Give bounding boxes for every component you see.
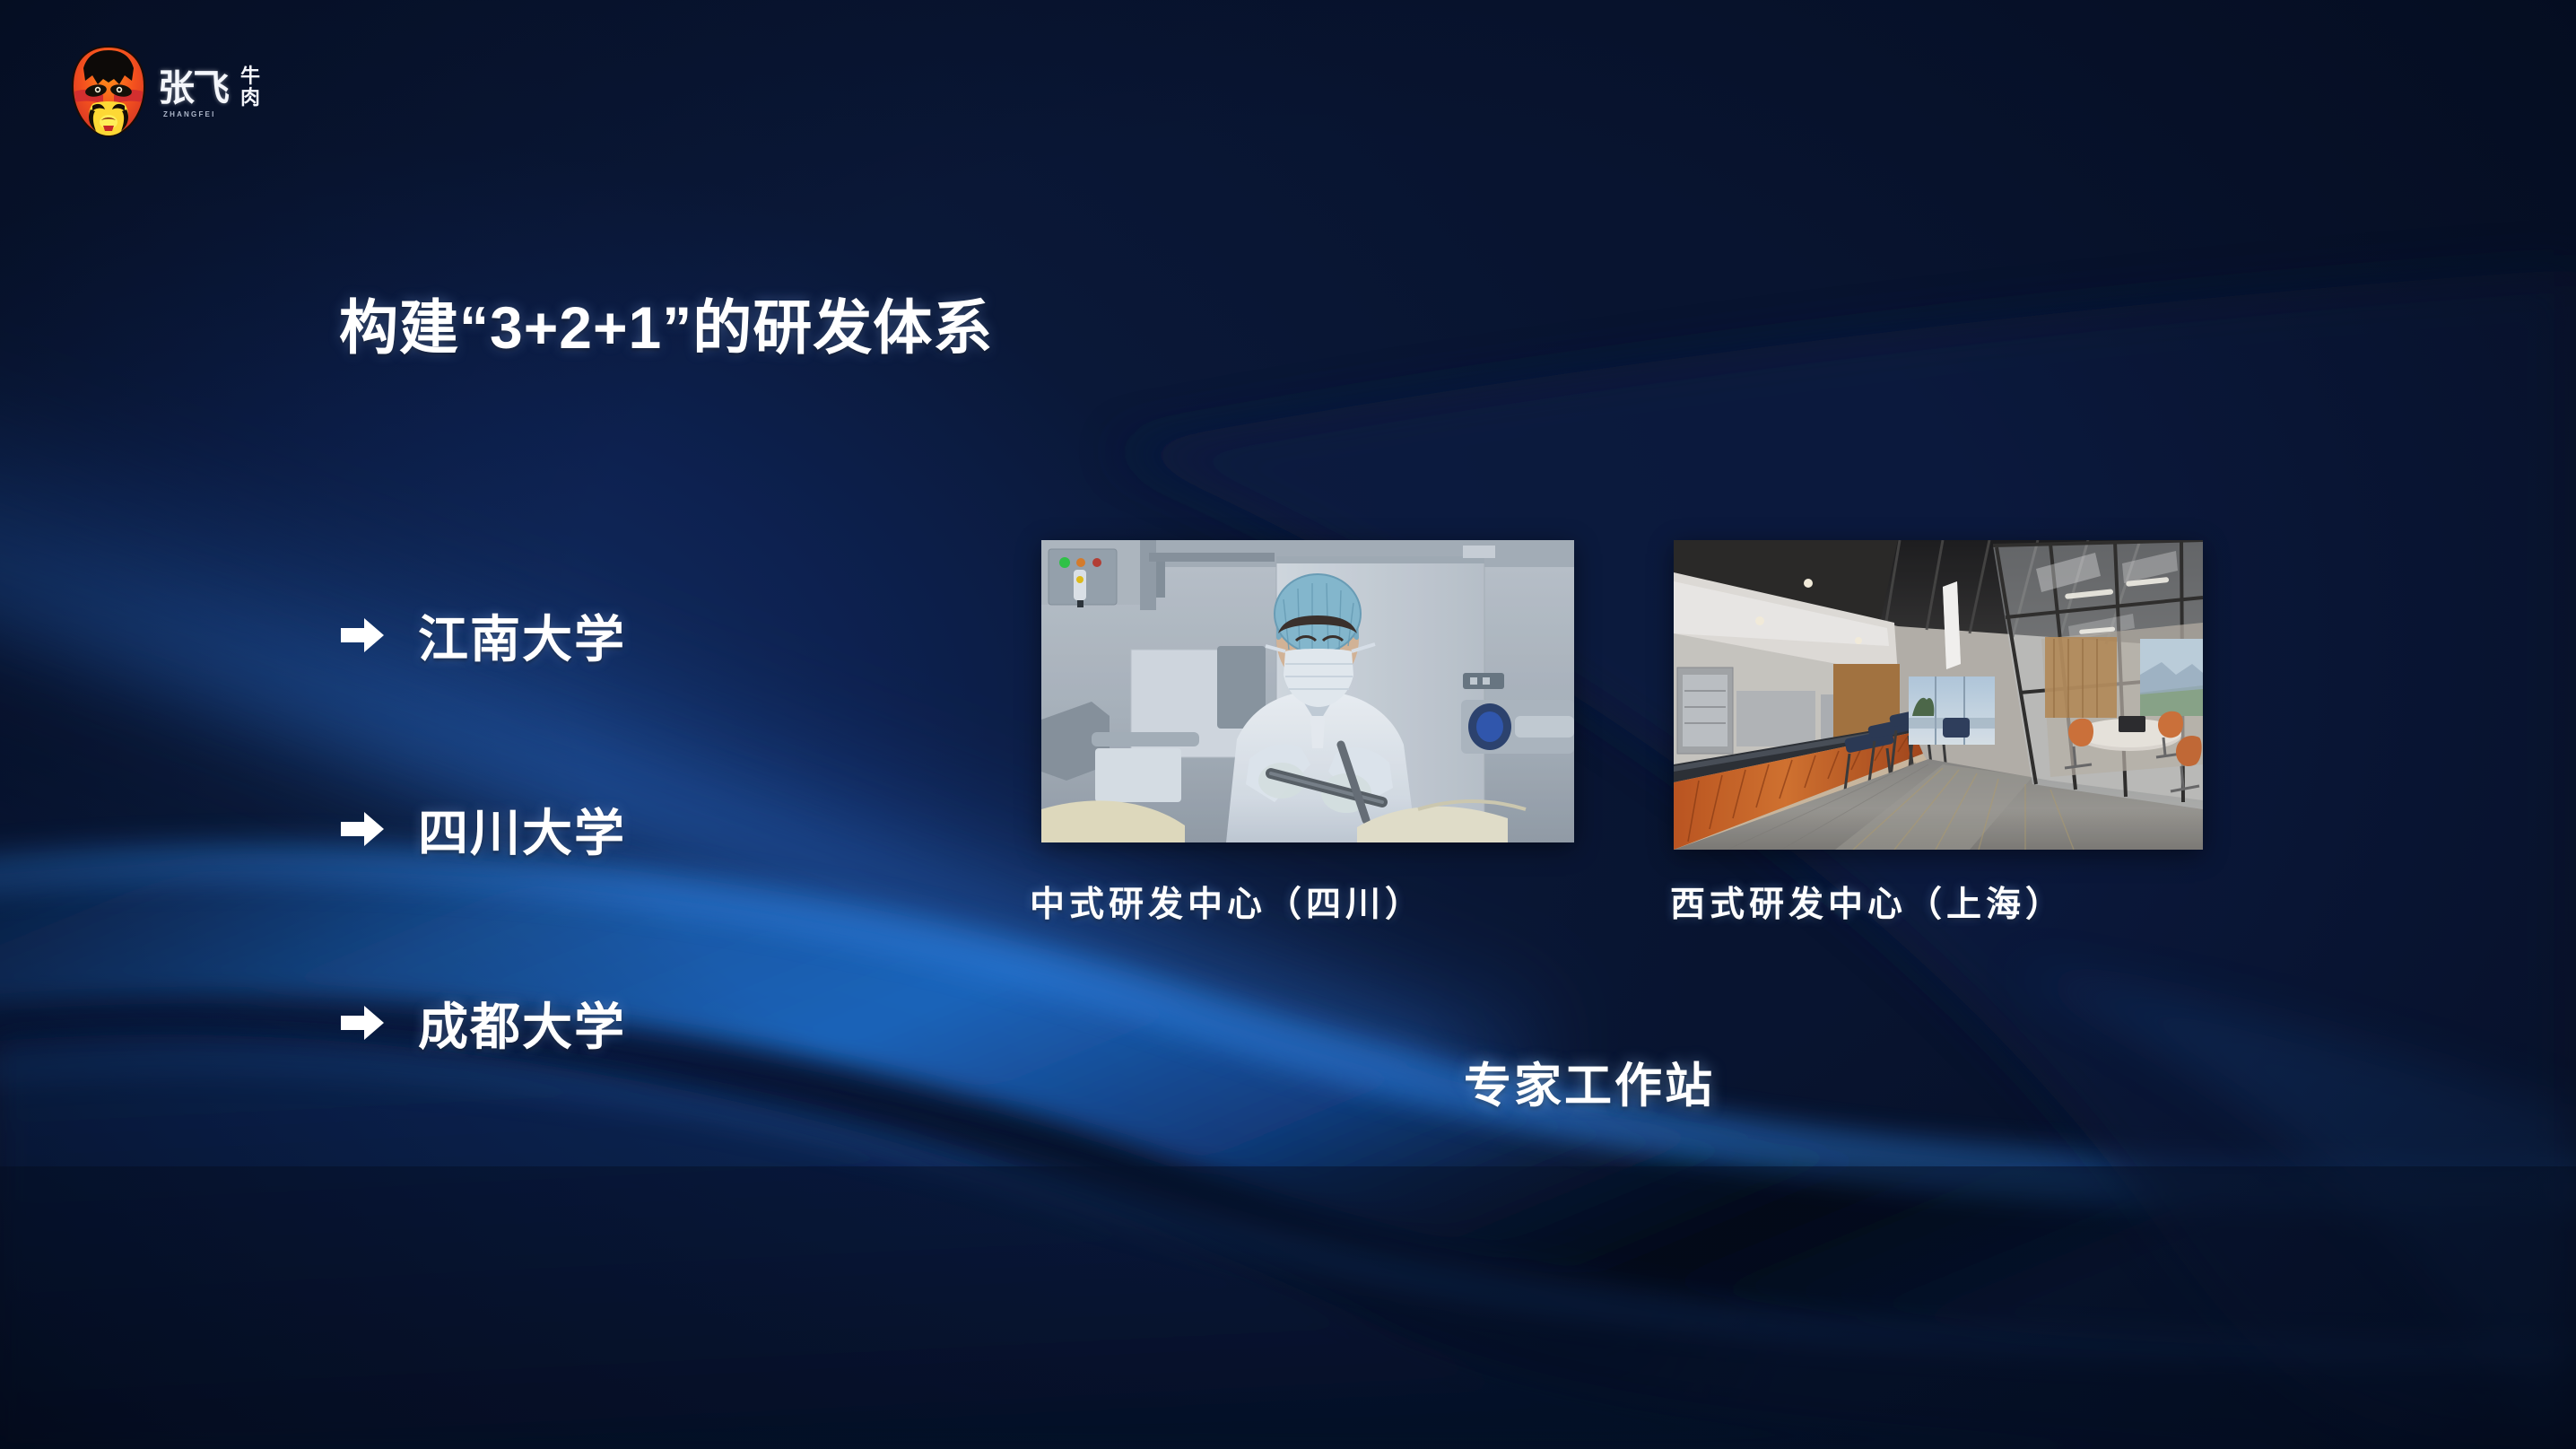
presentation-slide: 张飞 牛肉 ZHANGFEI 构建“3+2+1”的研发体系 江南大学 四川大学 … [0, 0, 2576, 1449]
page-title: 构建“3+2+1”的研发体系 [339, 280, 993, 366]
arrow-right-icon [339, 809, 386, 849]
list-item[interactable]: 四川大学 [339, 777, 895, 881]
arrow-right-icon [339, 1003, 386, 1043]
list-item[interactable]: 江南大学 [339, 583, 895, 687]
opera-mask-icon [67, 45, 150, 138]
list-item-label: 江南大学 [418, 599, 626, 672]
lab-technician-photo [1041, 540, 1574, 842]
logo-hanzi-main: 张飞 [158, 70, 228, 107]
list-item[interactable]: 成都大学 [339, 971, 895, 1075]
logo-hanzi-small: 牛肉 [239, 66, 262, 109]
list-item-label: 四川大学 [418, 793, 626, 866]
photo-rd-center-shanghai [1674, 540, 2203, 850]
office-corridor-photo [1674, 540, 2203, 850]
photo-rd-center-sichuan [1041, 540, 1574, 842]
brand-logo: 张飞 牛肉 ZHANGFEI [65, 39, 262, 140]
logo-pinyin: ZHANGFEI [163, 110, 216, 118]
photo-caption-shanghai: 西式研发中心（上海） [1670, 877, 2065, 927]
partner-university-list: 江南大学 四川大学 成都大学 [339, 583, 895, 1165]
logo-wordmark: 张飞 牛肉 ZHANGFEI [158, 65, 262, 131]
photo-caption-sichuan: 中式研发中心（四川） [1030, 877, 1424, 927]
expert-workstation-label: 专家工作站 [1464, 1048, 1715, 1116]
list-item-label: 成都大学 [418, 987, 626, 1060]
arrow-right-icon [339, 615, 386, 655]
